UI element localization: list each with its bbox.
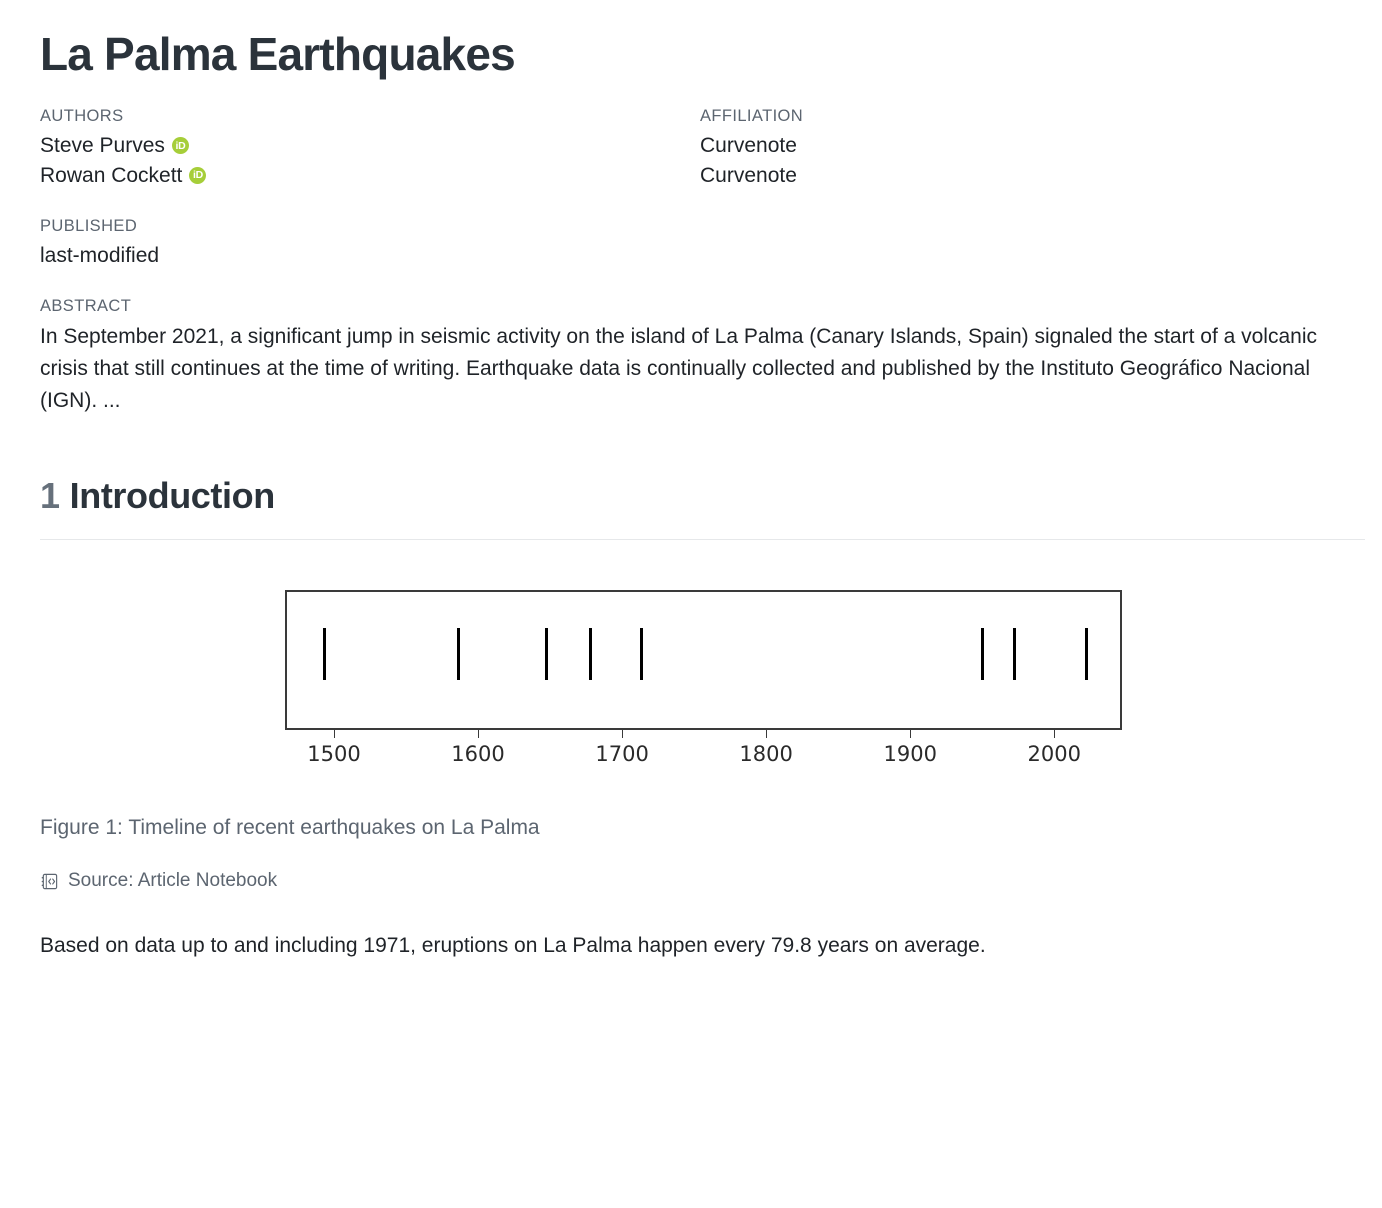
timeline-plot: 150016001700180019002000 bbox=[285, 590, 1122, 776]
event-marker bbox=[545, 628, 548, 680]
affiliation-column: AFFILIATION Curvenote Curvenote bbox=[700, 107, 1342, 191]
published-value: last-modified bbox=[40, 241, 1342, 271]
event-marker bbox=[1013, 628, 1016, 680]
axis-tick bbox=[766, 730, 767, 738]
axis-tick-label: 1700 bbox=[595, 742, 648, 766]
orcid-icon[interactable]: iD bbox=[189, 167, 206, 184]
event-marker bbox=[323, 628, 326, 680]
axis-tick bbox=[1054, 730, 1055, 738]
notebook-code-icon bbox=[40, 872, 59, 891]
axis-tick bbox=[334, 730, 335, 738]
orcid-icon[interactable]: iD bbox=[172, 137, 189, 154]
axis-tick-label: 1900 bbox=[883, 742, 936, 766]
source-line[interactable]: Source: Article Notebook bbox=[40, 840, 1342, 892]
author-name: Steve Purves bbox=[40, 131, 165, 161]
axis-tick-label: 2000 bbox=[1028, 742, 1081, 766]
event-marker bbox=[457, 628, 460, 680]
metadata-grid: AUTHORS Steve Purves iD Rowan Cockett iD… bbox=[40, 107, 1342, 191]
author-name: Rowan Cockett bbox=[40, 161, 182, 191]
abstract-label: ABSTRACT bbox=[40, 297, 1342, 316]
event-marker bbox=[1085, 628, 1088, 680]
axis-tick-label: 1500 bbox=[307, 742, 360, 766]
section-title: Introduction bbox=[70, 475, 275, 516]
published-block: PUBLISHED last-modified bbox=[40, 217, 1342, 271]
affiliation-entry: Curvenote bbox=[700, 161, 1342, 191]
abstract-block: ABSTRACT In September 2021, a significan… bbox=[40, 297, 1342, 417]
affiliation-list: Curvenote Curvenote bbox=[700, 131, 1342, 191]
axis-tick bbox=[622, 730, 623, 738]
author-entry: Rowan Cockett iD bbox=[40, 161, 700, 191]
published-label: PUBLISHED bbox=[40, 217, 1342, 236]
axis-tick-label: 1800 bbox=[739, 742, 792, 766]
section-number: 1 bbox=[40, 475, 60, 516]
section-heading: 1Introduction bbox=[40, 417, 1342, 517]
abstract-text: In September 2021, a significant jump in… bbox=[40, 321, 1342, 417]
body-paragraph: Based on data up to and including 1971, … bbox=[40, 892, 1320, 962]
authors-label: AUTHORS bbox=[40, 107, 700, 126]
author-entry: Steve Purves iD bbox=[40, 131, 700, 161]
axis-tick bbox=[910, 730, 911, 738]
figure-1: 150016001700180019002000 Figure 1: Timel… bbox=[40, 540, 1342, 892]
authors-column: AUTHORS Steve Purves iD Rowan Cockett iD bbox=[40, 107, 700, 191]
plot-frame bbox=[285, 590, 1122, 730]
authors-list: Steve Purves iD Rowan Cockett iD bbox=[40, 131, 700, 191]
event-marker bbox=[640, 628, 643, 680]
event-marker bbox=[981, 628, 984, 680]
affiliation-entry: Curvenote bbox=[700, 131, 1342, 161]
affiliation-label: AFFILIATION bbox=[700, 107, 1342, 126]
axis-tick bbox=[478, 730, 479, 738]
axis-tick-label: 1600 bbox=[451, 742, 504, 766]
figure-caption: Figure 1: Timeline of recent earthquakes… bbox=[40, 776, 1342, 840]
page-title: La Palma Earthquakes bbox=[40, 0, 1342, 81]
source-label: Source: Article Notebook bbox=[68, 870, 277, 892]
x-axis: 150016001700180019002000 bbox=[285, 730, 1122, 776]
event-marker bbox=[589, 628, 592, 680]
article-page: La Palma Earthquakes AUTHORS Steve Purve… bbox=[0, 0, 1382, 1208]
